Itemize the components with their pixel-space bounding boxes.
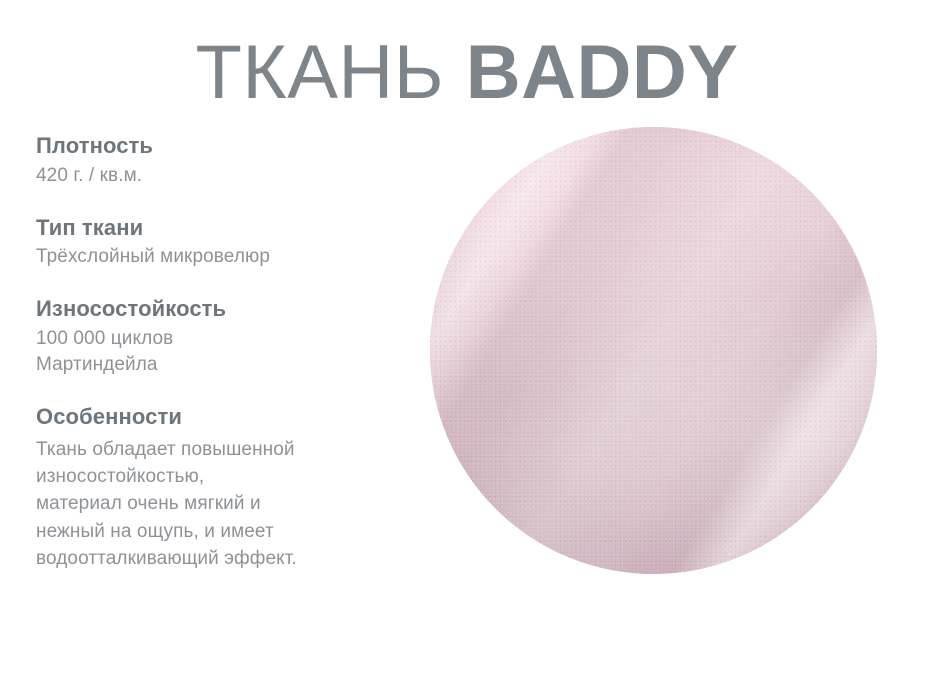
fabric-vignette (430, 127, 877, 574)
fabric-swatch-circle (430, 127, 877, 574)
spec-value-line: Мартиндейла (36, 352, 406, 378)
spec-heading: Плотность (36, 133, 406, 160)
spec-value-line: износостойкостью, (36, 463, 406, 490)
spec-value-line: водоотталкивающий эффект. (36, 545, 406, 572)
spec-value: Ткань обладает повышенной износостойкост… (36, 436, 406, 573)
page-title: ТКАНЬ BADDY (0, 35, 934, 111)
spec-heading: Тип ткани (36, 215, 406, 242)
page-title-bold: BADDY (466, 30, 739, 115)
spec-fabric-type: Тип ткани Трёхслойный микровелюр (36, 215, 406, 271)
specification-list: Плотность 420 г. / кв.м. Тип ткани Трёхс… (36, 133, 406, 572)
page-title-light: ТКАНЬ (196, 30, 466, 115)
spec-wear-resistance: Износостойкость 100 000 циклов Мартиндей… (36, 296, 406, 377)
spec-value: 420 г. / кв.м. (36, 163, 406, 189)
spec-value-line: 420 г. / кв.м. (36, 163, 406, 189)
spec-value-line: Ткань обладает повышенной (36, 436, 406, 463)
spec-value-line: Трёхслойный микровелюр (36, 244, 406, 270)
spec-value: 100 000 циклов Мартиндейла (36, 326, 406, 378)
spec-heading: Особенности (36, 404, 406, 431)
spec-density: Плотность 420 г. / кв.м. (36, 133, 406, 189)
spec-value-line: нежный на ощупь, и имеет (36, 518, 406, 545)
fabric-spec-card: ТКАНЬ BADDY Плотность 420 г. / кв.м. Тип… (0, 0, 934, 700)
spec-value-line: 100 000 циклов (36, 326, 406, 352)
spec-value: Трёхслойный микровелюр (36, 244, 406, 270)
spec-value-line: материал очень мягкий и (36, 490, 406, 517)
spec-heading: Износостойкость (36, 296, 406, 323)
spec-features: Особенности Ткань обладает повышенной из… (36, 404, 406, 573)
